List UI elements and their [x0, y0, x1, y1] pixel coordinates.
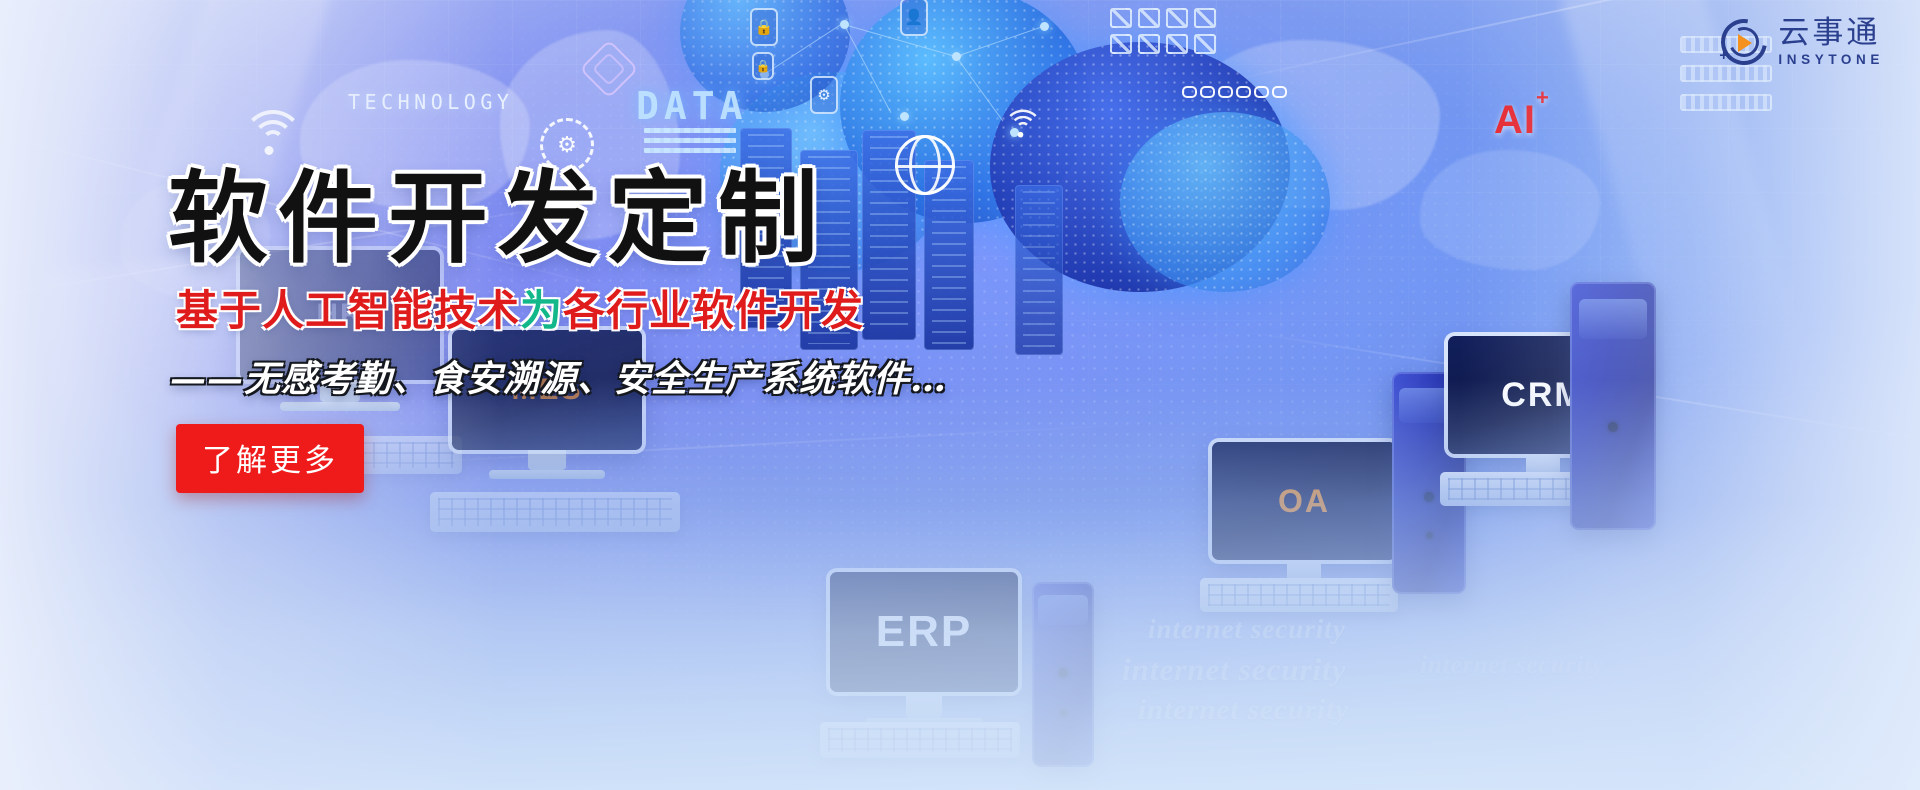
tagline: ——无感考勤、食安溯源、安全生产系统软件… [170, 350, 1028, 402]
page-title: 软件开发定制 [168, 168, 1028, 270]
brand-name-cn: 云事通 [1778, 18, 1884, 49]
chip-icon: ⚙ [810, 76, 838, 114]
subtitle-prefix: 基于人工智能技术 [176, 286, 520, 335]
person-icon: 👤 [900, 0, 928, 36]
learn-more-button[interactable]: 了解更多 [176, 424, 364, 493]
hero-copy-block: 软件开发定制 基于人工智能技术为各行业软件开发 ——无感考勤、食安溯源、安全生产… [168, 168, 1028, 493]
wifi-icon-secondary [1003, 110, 1044, 141]
chain-link-decoration [1182, 86, 1287, 98]
brand-logo-text: 云事通 INSYTONE [1778, 18, 1884, 67]
subtitle-suffix: 各行业软件开发 [563, 286, 864, 335]
brand-name-en: INSYTONE [1778, 53, 1884, 67]
subtitle-accent: 为 [520, 286, 563, 335]
subtitle: 基于人工智能技术为各行业软件开发 [176, 288, 1028, 334]
right-edge-fade [1459, 0, 1920, 790]
play-circle-icon: + [1721, 19, 1767, 65]
block-grid-decoration [1110, 8, 1216, 54]
brand-logo[interactable]: + 云事通 INSYTONE [1721, 18, 1884, 67]
lock-icon: 🔒 [750, 8, 778, 46]
data-label: DATA [636, 84, 748, 128]
data-bars-decoration [644, 128, 736, 158]
hero-banner: 🔒 👤 ⚙ 🔒 TECHNOLOGY DATA AI+ ⚙ HR MES [0, 0, 1920, 790]
lock-icon-secondary: 🔒 [752, 52, 774, 80]
